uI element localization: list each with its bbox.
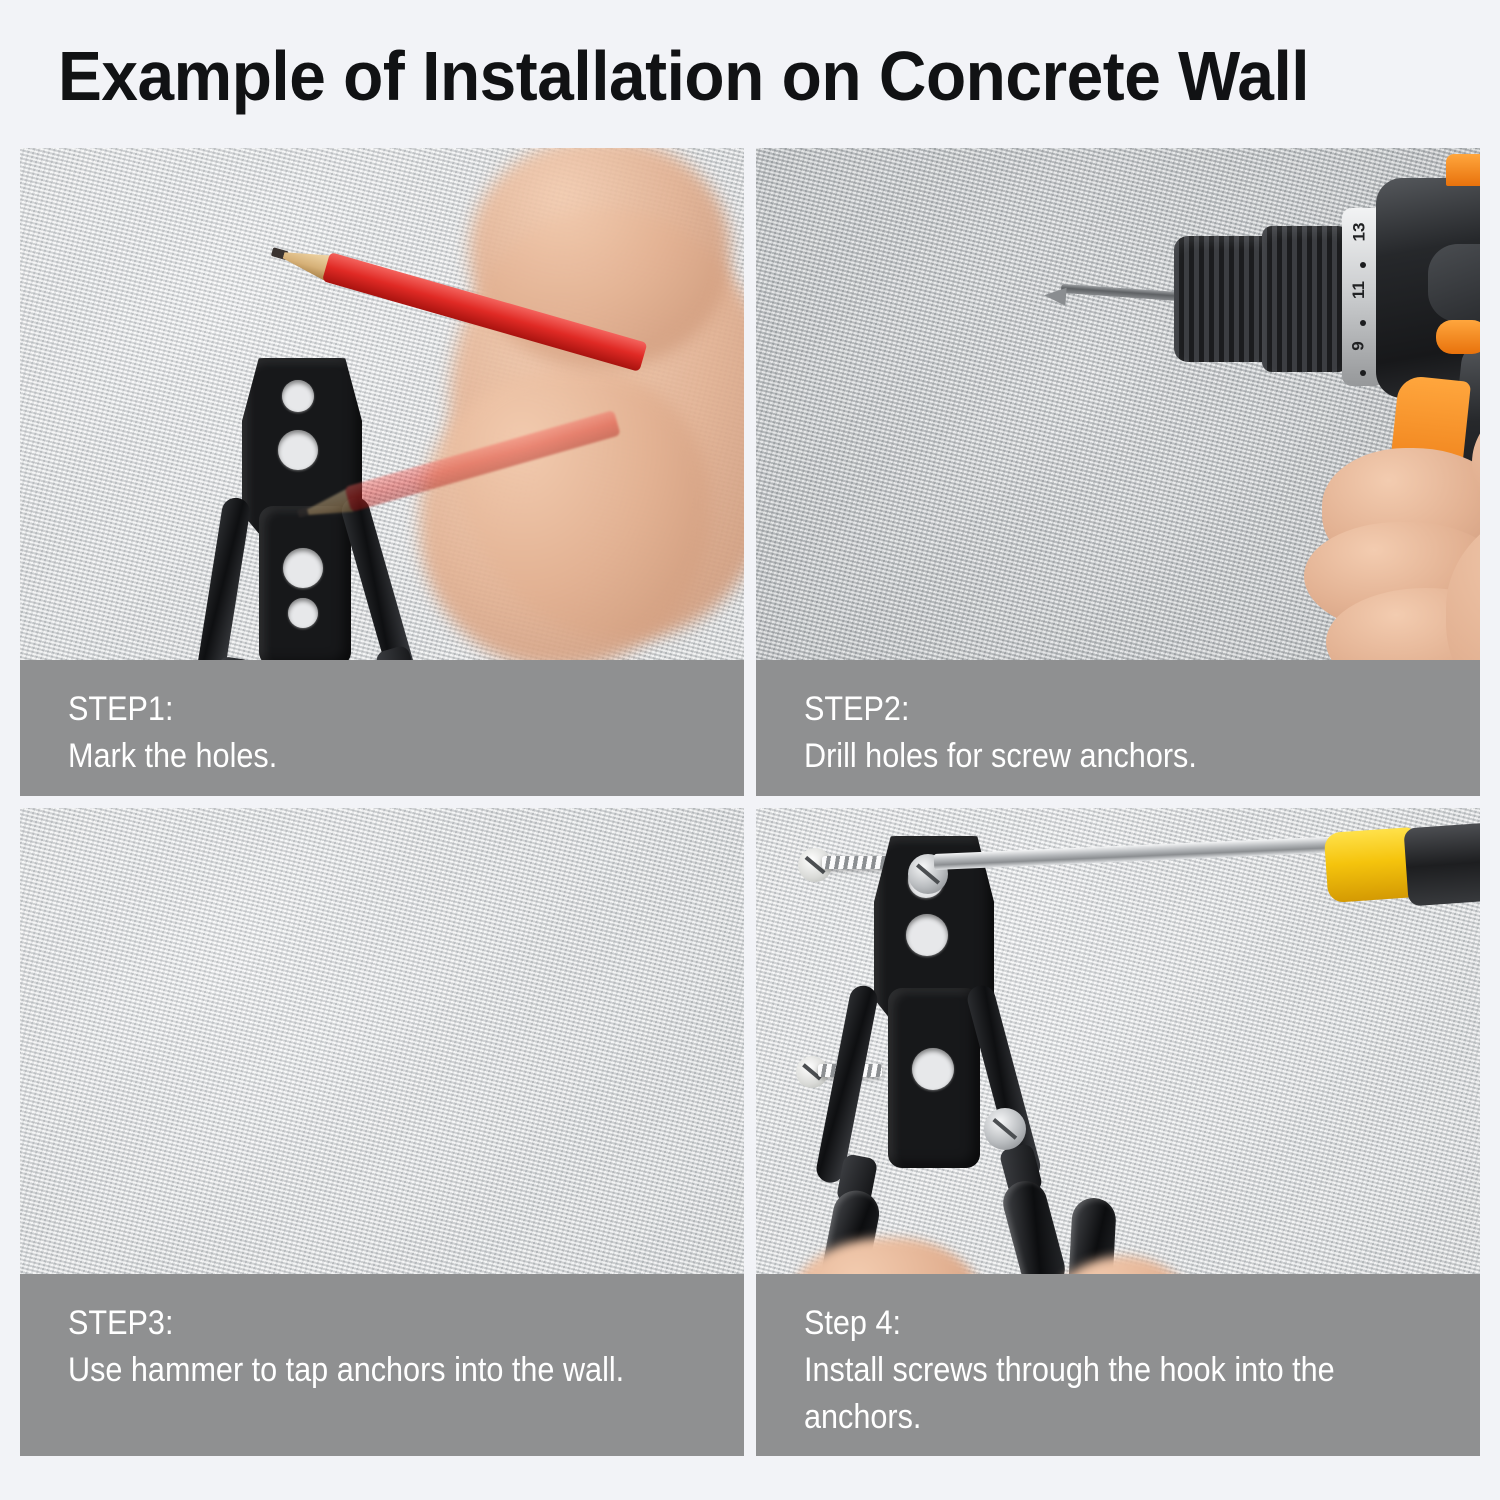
page-title: Example of Installation on Concrete Wall [58,36,1374,116]
clutch-number-13: 13 [1349,223,1369,242]
step-3-instruction: Use hammer to tap anchors into the wall. [68,1347,633,1394]
step-panel-2: 13 11 9 [756,148,1480,796]
drill-direction-switch [1436,320,1480,354]
step-1-label: STEP1: [68,686,633,733]
step-4-instruction: Install screws through the hook into the… [804,1347,1369,1441]
clutch-number-11: 11 [1349,281,1369,299]
installed-screw-head [984,1108,1026,1150]
hook-bracket [852,836,1152,1306]
mounting-hole [288,598,318,628]
step-1-caption: STEP1: Mark the holes. [20,660,744,796]
clutch-dot [1360,262,1366,268]
step-4-caption: Step 4: Install screws through the hook … [756,1274,1480,1456]
step-panel-1: STEP1: Mark the holes. [20,148,744,796]
step-panel-grid: STEP1: Mark the holes. 13 11 9 [20,148,1480,1456]
hook-arm-left [814,983,880,1185]
mounting-hole [912,1048,954,1090]
step-panel-3: STEP3: Use hammer to tap anchors into th… [20,808,744,1456]
drill-bit-tip [1043,286,1066,305]
step-1-instruction: Mark the holes. [68,733,633,780]
mounting-hole [282,380,314,412]
step-3-label: STEP3: [68,1300,633,1347]
step-2-caption: STEP2: Drill holes for screw anchors. [756,660,1480,796]
screwdriver-handle [1403,820,1480,907]
mounting-hole [906,914,948,956]
clutch-number-9: 9 [1349,341,1369,350]
clutch-dot [1360,370,1366,376]
installation-guide-page: Example of Installation on Concrete Wall [0,0,1500,1500]
step-2-instruction: Drill holes for screw anchors. [804,733,1369,780]
clutch-dot [1360,320,1366,326]
mounting-hole [283,548,323,588]
step-2-label: STEP2: [804,686,1369,733]
mounting-hole [278,430,318,470]
step-3-caption: STEP3: Use hammer to tap anchors into th… [20,1274,744,1456]
step-4-label: Step 4: [804,1300,1369,1347]
drill-chuck-collar [1262,226,1348,372]
drill-chuck [1174,236,1270,362]
drill-orange-top-accent [1446,154,1480,186]
drill-body-panel [1428,244,1480,322]
step-panel-4: Step 4: Install screws through the hook … [756,808,1480,1456]
drill-bit [1061,284,1181,301]
